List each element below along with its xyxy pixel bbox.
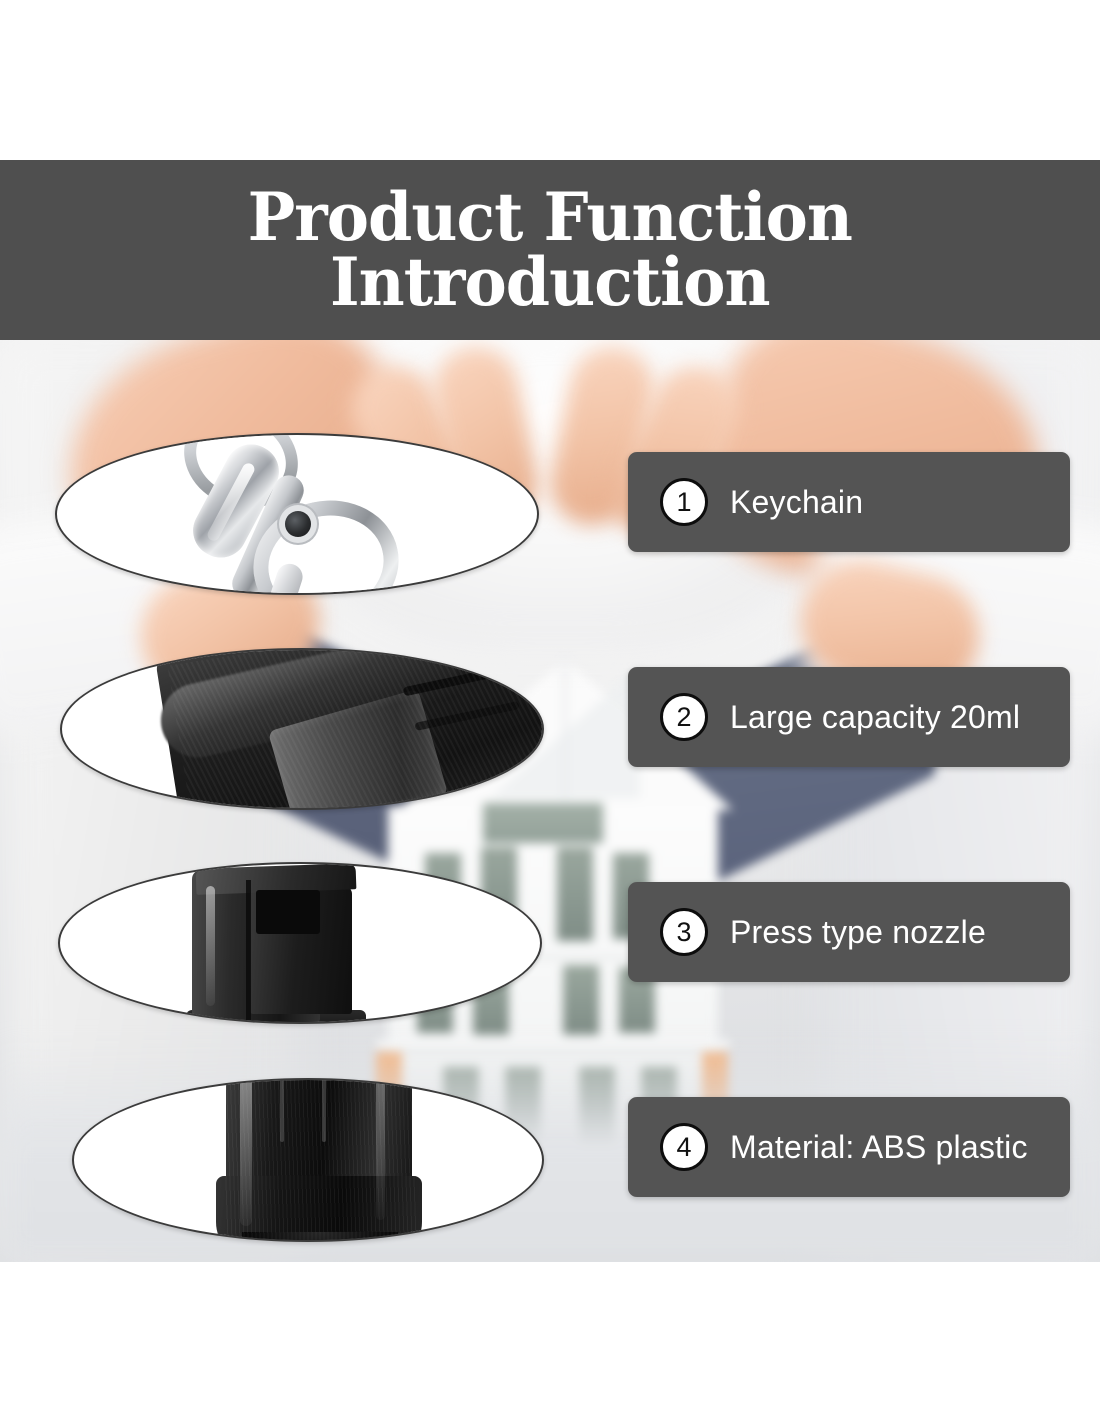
house-ridge xyxy=(562,656,569,804)
feature-number-badge: 3 xyxy=(660,908,708,956)
abs-plastic-base-icon xyxy=(74,1080,542,1240)
keychain-clasp-icon xyxy=(57,435,537,593)
callout-ellipse-nozzle xyxy=(58,862,542,1024)
feature-number-badge: 2 xyxy=(660,693,708,741)
feature-card-2[interactable]: 2 Large capacity 20ml xyxy=(628,667,1070,767)
infographic-page: Product Function Introduction xyxy=(0,0,1100,1422)
nozzle-highlight xyxy=(206,886,215,1006)
nozzle-notch-part xyxy=(256,890,320,934)
nozzle-seam-part xyxy=(246,880,251,1020)
house-window xyxy=(554,844,596,944)
feature-label: Press type nozzle xyxy=(730,914,986,951)
press-nozzle-icon xyxy=(60,864,540,1022)
feature-number-badge: 4 xyxy=(660,1123,708,1171)
feature-card-4[interactable]: 4 Material: ABS plastic xyxy=(628,1097,1070,1197)
feature-card-1[interactable]: 1 Keychain xyxy=(628,452,1070,552)
callout-ellipse-material xyxy=(72,1078,544,1242)
feature-label: Material: ABS plastic xyxy=(730,1129,1028,1166)
header-band: Product Function Introduction xyxy=(0,160,1100,340)
feature-card-3[interactable]: 3 Press type nozzle xyxy=(628,882,1070,982)
callout-ellipse-keychain xyxy=(55,433,539,595)
abs-texture xyxy=(224,1080,416,1240)
house-window xyxy=(560,962,602,1038)
bottle-body-icon xyxy=(62,650,542,808)
feature-label: Large capacity 20ml xyxy=(730,699,1020,736)
feature-number-badge: 1 xyxy=(660,478,708,526)
page-title: Product Function Introduction xyxy=(209,185,890,314)
feature-label: Keychain xyxy=(730,484,863,521)
clasp-rivet-part xyxy=(285,511,311,537)
bottle-texture xyxy=(168,650,542,808)
callout-ellipse-capacity xyxy=(60,648,544,810)
